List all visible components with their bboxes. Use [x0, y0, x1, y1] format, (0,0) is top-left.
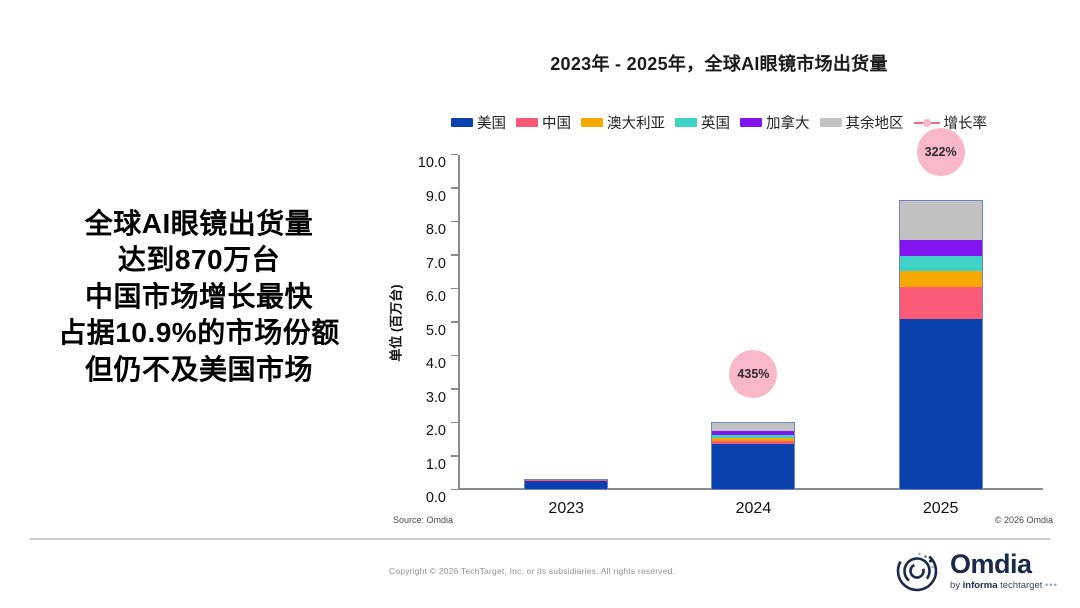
chart-source: Source: Omdia — [393, 515, 453, 525]
growth-rate-bubble-2025: 322% — [917, 128, 965, 176]
footer-copyright: Copyright © 2026 TechTarget, Inc. or its… — [389, 566, 675, 576]
y-axis-title: 单位 (百万台) — [386, 284, 405, 361]
y-axis-line — [458, 155, 460, 490]
bar-segment[interactable] — [899, 256, 983, 271]
legend-swatch-australia — [581, 118, 603, 127]
bar-segment[interactable] — [899, 319, 983, 490]
bar-segment[interactable] — [899, 200, 983, 240]
x-axis-tick-label: 2023 — [496, 500, 636, 518]
omdia-mark-icon — [894, 548, 940, 594]
headline-line-5: 但仍不及美国市场 — [24, 352, 374, 388]
legend-item-rest[interactable]: 其余地区 — [820, 112, 904, 133]
legend-item-china[interactable]: 中国 — [516, 112, 571, 133]
bar-2025[interactable] — [899, 200, 983, 490]
y-axis-tick — [451, 187, 458, 189]
slide: 全球AI眼镜出货量 达到870万台 中国市场增长最快 占据10.9%的市场份额 … — [0, 0, 1080, 608]
y-axis-tick — [451, 254, 458, 256]
legend-item-australia[interactable]: 澳大利亚 — [581, 112, 665, 133]
legend-swatch-china — [516, 118, 538, 127]
x-axis-tick-label: 2024 — [683, 500, 823, 518]
legend-label-uk: 英国 — [701, 112, 730, 133]
omdia-logo-name: Omdia — [950, 551, 1058, 578]
legend-label-us: 美国 — [477, 112, 506, 133]
y-axis-tick — [451, 154, 458, 156]
legend-item-uk[interactable]: 英国 — [675, 112, 730, 133]
bar-segment[interactable] — [899, 287, 983, 319]
omdia-logo-text: Omdia by informa techtarget ••• — [950, 551, 1058, 591]
chart-copyright: © 2026 Omdia — [995, 515, 1053, 525]
omdia-logo-tagline: by informa techtarget ••• — [950, 581, 1058, 591]
legend-swatch-uk — [675, 118, 697, 127]
legend-label-canada: 加拿大 — [766, 112, 810, 133]
bar-segment[interactable] — [711, 422, 795, 431]
legend-label-australia: 澳大利亚 — [607, 112, 665, 133]
logo-sub-rest: techtarget — [997, 580, 1042, 591]
legend-swatch-canada — [740, 118, 762, 127]
y-axis-tick — [451, 388, 458, 390]
headline-line-2: 达到870万台 — [24, 242, 374, 278]
plot-area: 单位 (百万台) 0.01.02.03.04.05.06.07.08.09.01… — [458, 155, 1043, 490]
headline-line-4: 占据10.9%的市场份额 — [24, 315, 374, 351]
headline-line-3: 中国市场增长最快 — [24, 279, 374, 315]
y-axis-tick — [451, 221, 458, 223]
bar-segment[interactable] — [899, 240, 983, 255]
chart-container: 2023年 - 2025年，全球AI眼镜市场出货量 美国 中国 澳大利亚 英国 … — [383, 40, 1055, 540]
legend-swatch-rest — [820, 118, 842, 127]
omdia-logo: Omdia by informa techtarget ••• — [894, 548, 1058, 594]
chart-title: 2023年 - 2025年，全球AI眼镜市场出货量 — [383, 50, 1055, 76]
headline-block: 全球AI眼镜出货量 达到870万台 中国市场增长最快 占据10.9%的市场份额 … — [24, 206, 374, 388]
legend-item-us[interactable]: 美国 — [451, 112, 506, 133]
chart-legend: 美国 中国 澳大利亚 英国 加拿大 其余地区 — [383, 112, 1055, 133]
bar-segment[interactable] — [711, 444, 795, 490]
y-axis-tick — [451, 422, 458, 424]
logo-sub-prefix: by — [950, 580, 963, 591]
bar-2024[interactable] — [711, 422, 795, 490]
y-axis-tick — [451, 355, 458, 357]
legend-label-rest: 其余地区 — [846, 112, 904, 133]
x-axis-tick-label: 2025 — [871, 500, 1011, 518]
legend-item-canada[interactable]: 加拿大 — [740, 112, 810, 133]
legend-label-china: 中国 — [542, 112, 571, 133]
bar-segment[interactable] — [524, 481, 608, 490]
growth-rate-bubble-2024: 435% — [729, 350, 777, 398]
y-axis-tick — [451, 455, 458, 457]
y-axis-tick — [451, 288, 458, 290]
y-axis-tick — [451, 489, 458, 491]
legend-swatch-us — [451, 118, 473, 127]
logo-dots: ••• — [1045, 580, 1058, 591]
bar-2023[interactable] — [524, 479, 608, 490]
logo-sub-brand: informa — [963, 580, 998, 591]
headline-line-1: 全球AI眼镜出货量 — [24, 206, 374, 242]
bar-segment[interactable] — [899, 271, 983, 288]
footer-divider — [30, 538, 1050, 540]
y-axis-tick — [451, 321, 458, 323]
growth-rate-marker-icon — [914, 118, 940, 128]
